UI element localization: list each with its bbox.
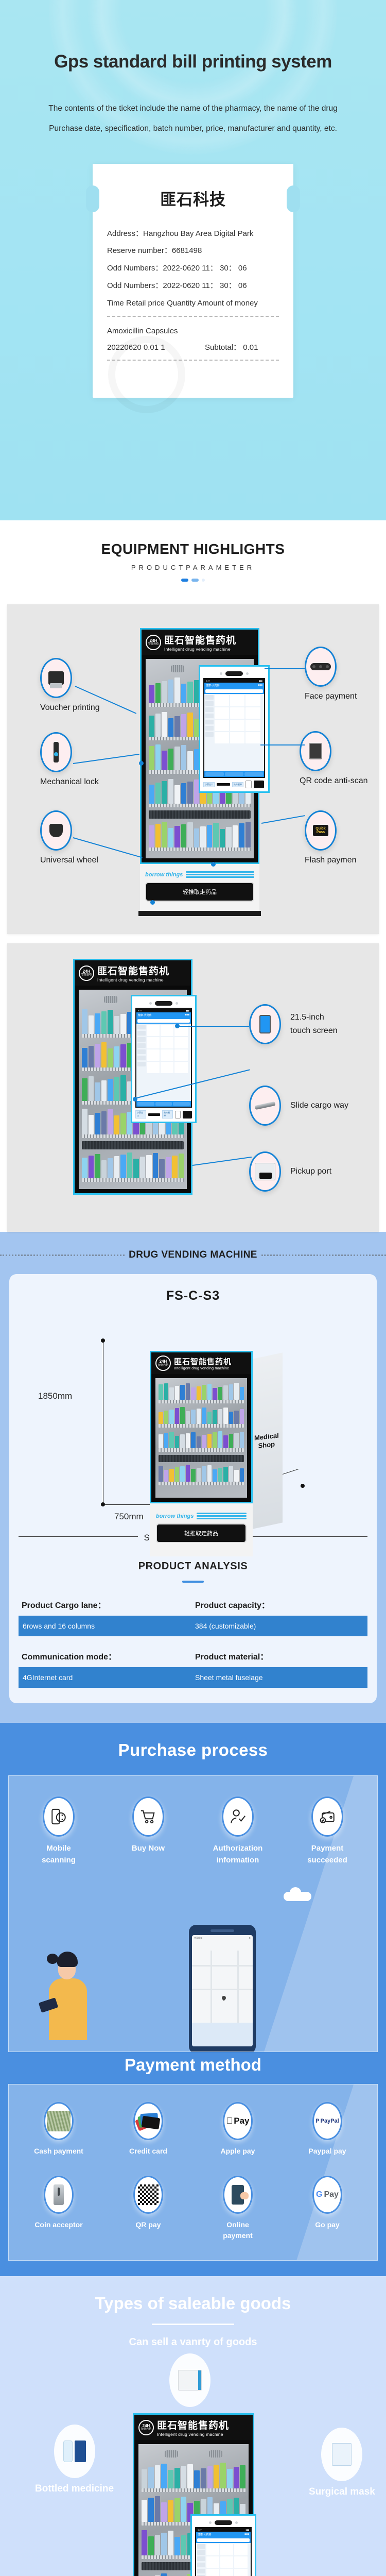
flash-pay-icon: Quick Pass (313, 825, 328, 836)
step-payment-succeeded: Payment succeeded (296, 1797, 358, 1866)
apple-pay-icon: Pay (226, 2116, 250, 2126)
receipt-watermark (108, 336, 185, 413)
callout-slide-cargo-way: Slide cargo way (249, 1086, 348, 1126)
dot-1[interactable] (181, 579, 188, 582)
screen-bottom-tabs[interactable] (136, 1101, 191, 1107)
screen-product-grid[interactable] (136, 1024, 191, 1101)
leader-line (260, 744, 305, 745)
machine-lower-panel: borrow things 轻推取走药品 (150, 1503, 253, 1556)
machine-header-banner: 24H 智能自助 匪石智能售药机 Intelligent drug vendin… (150, 1351, 253, 1374)
machine-header-banner: 24H 智能自助 匪石智能售药机 Intelligent drug vendin… (133, 2413, 254, 2440)
map-street (192, 1989, 253, 1990)
machine-cabinet (150, 1374, 253, 1503)
purchase-process-section: Purchase process Mobile scanning (0, 1723, 386, 2052)
scan-bubble (300, 731, 331, 771)
step-label: Mobile scanning (28, 1843, 90, 1866)
payment-label: Apple pay (209, 2146, 266, 2157)
pill-row (159, 1464, 244, 1482)
shopping-cart-icon (139, 1808, 157, 1825)
leader-node (211, 862, 216, 867)
payment-paypal[interactable]: PPayPal Paypal pay (299, 2102, 356, 2157)
title-dotted-line-right (261, 1255, 386, 1256)
payment-label-line-2: payment (209, 2230, 266, 2242)
pickup-port-icon (255, 1163, 275, 1180)
screen-product-items[interactable] (215, 695, 263, 770)
receipt-address-label: Address： (107, 229, 143, 238)
step-label-line-2: scanning (28, 1855, 90, 1867)
shelf-rail (149, 804, 251, 807)
hero-subtitle-line-2: Purchase date, specification, batch numb… (0, 119, 386, 139)
highlights-diagram-2: 24H 智能自助 匪石智能售药机 Intelligent drug vendin… (7, 943, 379, 1232)
google-pay-icon: GPay (316, 2190, 339, 2199)
screen-product-grid[interactable] (204, 694, 264, 771)
machine-name-block: 匪石智能售药机 Intelligent drug vending machine (174, 1356, 232, 1370)
kiosk-touchscreen[interactable]: 9:27▮▮▮ 健康·大药房■■■ (135, 1008, 192, 1108)
phone-map-screen: 共享用车⚙ (192, 1935, 253, 2046)
purchase-steps: Mobile scanning Buy Now (14, 1797, 372, 1866)
callout-label-line-1: 21.5-inch (290, 1013, 338, 1022)
table-row: 4GInternet card Sheet metal fuselage (19, 1667, 367, 1688)
machine-name-en: Intelligent drug vending machine (174, 1367, 232, 1370)
prescription-label: 处方制单 (162, 1110, 173, 1118)
user-check-icon (229, 1808, 247, 1825)
screen-statusbar: 9:27▮▮▮ (204, 679, 264, 683)
dimension-diagram: 1850mm 750mm 700mm Medical Shop (19, 1307, 367, 1528)
receipt-slot-label: 小票出口 (203, 782, 215, 787)
machine-name-en: Intelligent drug vending machine (157, 2432, 229, 2437)
leader-line (192, 1157, 252, 1166)
goods-diagram: Boxed medicine Bottled medicine Surgical… (0, 2357, 386, 2576)
vending-spec-card: FS-C-S3 1850mm 750mm 700mm Medical (9, 1274, 377, 1703)
screen-product-items[interactable] (206, 2544, 250, 2576)
dispenser-track (149, 810, 251, 819)
pickup-door[interactable]: 轻推取走药品 (156, 1523, 247, 1543)
spec-value-communication: 4GInternet card (23, 1673, 191, 1682)
screen-statusbar: 9:27▮▮▮ (196, 2528, 251, 2532)
spec-value-capacity: 384 (customizable) (191, 1622, 363, 1630)
phone-speaker (210, 1929, 234, 1932)
tree-illustration (328, 1980, 345, 2034)
goods-label: Bottled medicine (35, 2483, 114, 2495)
wheel-bubble (40, 810, 72, 851)
kiosk-camera-strip (195, 2519, 252, 2527)
step-label-line-2: information (207, 1855, 269, 1867)
payment-coin-acceptor[interactable]: Coin acceptor (30, 2176, 87, 2242)
person-illustration (43, 1951, 99, 2038)
leader-line (261, 815, 305, 824)
face-camera-icon (155, 1001, 172, 1006)
pill-row (159, 1431, 244, 1448)
receipt-reserve-label: Reserve number： (107, 246, 172, 255)
product-analysis-rule (182, 1581, 204, 1583)
machine-name-cn: 匪石智能售药机 (157, 2418, 229, 2432)
lock-icon (54, 742, 59, 762)
goods-bottled-medicine: Bottled medicine (35, 2425, 114, 2495)
machine-name-en: Intelligent drug vending machine (164, 647, 236, 652)
payment-label: QR pay (120, 2219, 177, 2231)
callout-label: Face payment (305, 692, 357, 701)
machine-name-cn: 匪石智能售药机 (164, 633, 236, 647)
receipt-item-name: Amoxicillin Capsules (107, 323, 279, 340)
callout-label: Universal wheel (40, 856, 98, 865)
user-check-bubble (222, 1797, 254, 1837)
callout-pickup-port: Pickup port (249, 1151, 331, 1192)
spec-label-communication: Communication mode： (22, 1650, 191, 1662)
spec-label-material: Product material： (191, 1650, 364, 1662)
surgical-mask-icon (332, 2443, 352, 2466)
step-label-line-2: succeeded (296, 1855, 358, 1867)
equipment-highlights-section: EQUIPMENT HIGHLIGHTS PRODUCTPARAMETER 24… (0, 520, 386, 1232)
qr-scanner-icon (309, 743, 322, 759)
payment-apple-pay[interactable]: Pay Apple pay (209, 2102, 266, 2157)
credit-cards-icon (136, 2111, 160, 2131)
medicine-box-icon (178, 2370, 202, 2391)
table-header-row: Product Cargo lane： Product capacity： (19, 1598, 367, 1616)
page-title: Gps standard bill printing system (0, 52, 386, 72)
payment-online[interactable]: Online payment (209, 2176, 266, 2242)
payment-method-section: Payment method Cash payment Credit card … (0, 2052, 386, 2276)
dimension-height: 1850mm (38, 1391, 72, 1401)
receipt-slot-icon (217, 783, 230, 786)
screen-navbar: 健康·大药房■■■ (136, 1012, 191, 1018)
highlights-title: EQUIPMENT HIGHLIGHTS (0, 541, 386, 557)
logo-bars (186, 871, 254, 878)
receipt-odd-row-2: Odd Numbers：2022-0620 11： 30： 06 (107, 277, 279, 295)
carousel-dots[interactable] (0, 579, 386, 582)
saleable-goods-section: Types of saleable goods Can sell a vanrt… (0, 2276, 386, 2576)
step-label-line-1: Authorization (207, 1843, 269, 1855)
receipt-logo: 匪石科技 (107, 187, 279, 210)
cash-bubble (44, 2102, 74, 2140)
receipt-card: 匪石科技 Address：Hangzhou Bay Area Digital P… (93, 164, 293, 398)
screen-search-input[interactable] (137, 1019, 190, 1023)
callout-qr-anti-scan: QR code anti-scan (300, 731, 368, 786)
highlights-diagram-1: 24H 智能自助 匪石智能售药机 Intelligent drug vendin… (7, 604, 379, 934)
leader-node (133, 1097, 137, 1101)
badge-auto-text: 智能自助 (148, 643, 159, 646)
kiosk-controls: 小票出口 处方制单 (135, 1108, 192, 1118)
table-row: 6rows and 16 columns 384 (customizable) (19, 1616, 367, 1636)
wallet-check-bubble (311, 1797, 343, 1837)
qr-scanner-icon[interactable] (254, 781, 264, 788)
lock-bubble (40, 732, 72, 772)
machine-glass-window (155, 1378, 247, 1498)
kiosk-panel-3: 9:27▮▮▮ 健康·大药房■■■ (190, 2514, 256, 2576)
mask-bubble (321, 2428, 362, 2481)
vent-left (171, 665, 184, 672)
apple-pay-bubble: Pay (223, 2102, 253, 2140)
receipt-subtotal-value: 0.01 (243, 340, 258, 356)
callout-label-block: 21.5-inch touch screen (290, 1013, 338, 1036)
cloud-illustration (284, 1892, 311, 1901)
payment-label-line-1: Online (209, 2219, 266, 2231)
kiosk-touchscreen[interactable]: 9:27▮▮▮ 健康·大药房■■■ (195, 2527, 252, 2576)
vending-machine-3d: Medical Shop 24H 智能自助 匪石智能售药机 (150, 1351, 253, 1556)
machine-name-cn: 匪石智能售药机 (97, 963, 169, 977)
screen-category-list[interactable] (197, 2544, 205, 2576)
callout-universal-wheel: Universal wheel (40, 810, 98, 865)
dot-2[interactable] (191, 579, 199, 582)
payment-label: Online payment (209, 2219, 266, 2242)
receipt-odd-value-2: 2022-0620 11： 30： 06 (163, 281, 247, 290)
leader-node (139, 761, 144, 766)
receipt-address-row: Address：Hangzhou Bay Area Digital Park (107, 225, 279, 243)
machine-name-block: 匪石智能售药机 Intelligent drug vending machine (157, 2418, 229, 2437)
shelf-row (159, 1464, 244, 1485)
shelf-row (159, 1431, 244, 1452)
card-reader-icon[interactable] (175, 1111, 181, 1118)
screen-search-input[interactable] (197, 2538, 250, 2542)
step-label: Buy Now (117, 1843, 179, 1855)
person-hair-bun (47, 1954, 58, 1964)
screen-category-list[interactable] (205, 695, 214, 770)
printer-bubble (40, 658, 72, 698)
shelf-rail (149, 848, 251, 851)
qr-scanner-icon[interactable] (183, 1111, 192, 1118)
payment-label: Cash payment (30, 2146, 87, 2157)
dimension-dot (101, 1502, 105, 1506)
step-label-line-1: Buy Now (117, 1843, 179, 1855)
step-mobile-scanning: Mobile scanning (28, 1797, 90, 1866)
mobile-hand-icon (232, 2185, 244, 2205)
kiosk-panel-1: 9:27▮▮▮ 健康·大药房■■■ 小票出口 处方制单 (199, 665, 270, 793)
online-bubble (223, 2176, 253, 2214)
dimension-width: 750mm (114, 1512, 144, 1522)
dimension-dot (301, 1484, 305, 1488)
pill-row (159, 1382, 244, 1400)
receipt-wrapper: 匪石科技 Address：Hangzhou Bay Area Digital P… (93, 164, 293, 398)
receipt-address-value: Hangzhou Bay Area Digital Park (143, 229, 253, 238)
kiosk-panel-2: 9:27▮▮▮ 健康·大药房■■■ 小票出口 处方制单 (131, 995, 197, 1123)
machine-lower-panel: borrow things 轻推取走药品 (140, 864, 259, 911)
touchscreen-icon (259, 1015, 271, 1033)
map-header: 共享用车⚙ (192, 1935, 253, 1941)
payment-google-pay[interactable]: GPay Go pay (299, 2176, 356, 2242)
section-title: DRUG VENDING MACHINE (129, 1249, 257, 1261)
shelf-row (82, 1151, 184, 1182)
coin-acceptor-icon (54, 2184, 64, 2205)
goods-rule (152, 2324, 234, 2325)
face-camera-icon (225, 671, 243, 676)
screen-search-input[interactable] (205, 689, 263, 693)
kiosk-camera-strip (135, 999, 192, 1008)
machine-front: 24H 智能自助 匪石智能售药机 Intelligent drug vendin… (150, 1351, 253, 1556)
shelf-row (149, 821, 251, 851)
screen-bottom-tabs[interactable] (204, 771, 264, 777)
badge-auto-text: 智能自助 (81, 974, 92, 976)
screen-product-grid[interactable] (196, 2543, 251, 2576)
spec-label-cargo-lane: Product Cargo lane： (22, 1598, 191, 1611)
machine-name-block: 匪石智能售药机 Intelligent drug vending machine (164, 633, 236, 652)
step-label: Payment succeeded (296, 1843, 358, 1866)
person-hair (57, 1952, 78, 1967)
purchase-panel: Mobile scanning Buy Now (8, 1775, 378, 2052)
callout-label: Slide cargo way (290, 1101, 348, 1110)
badge-24h-icon: 24H 智能自助 (79, 965, 94, 981)
kiosk-controls: 小票出口 处方制单 (203, 778, 265, 788)
paypal-bubble: PPayPal (312, 2102, 342, 2140)
payment-title: Payment method (0, 2055, 386, 2075)
screen-category-list[interactable] (137, 1025, 146, 1100)
goods-surgical-mask: Surgical mask (309, 2428, 375, 2498)
shelf-row (142, 2462, 245, 2492)
leader-line (177, 1026, 249, 1027)
receipt-odd-value-1: 2022-0620 11： 30： 06 (163, 264, 247, 273)
medicine-bottle-bubble (54, 2425, 95, 2478)
drug-vending-machine-section: DRUG VENDING MACHINE FS-C-S3 1850mm 750m… (0, 1232, 386, 1723)
dimension-line-vertical (103, 1341, 103, 1504)
machine-header-banner: 24H 智能自助 匪石智能售药机 Intelligent drug vendin… (140, 628, 259, 655)
receipt-slot-icon (148, 1113, 161, 1116)
cash-icon (47, 2111, 71, 2131)
receipt-column-headers: Time Retail price Quantity Amount of mon… (107, 295, 279, 312)
section-title-row: DRUG VENDING MACHINE (0, 1249, 386, 1261)
badge-24h-icon: 24H 智能自助 (138, 2420, 154, 2435)
qr-bubble (133, 2176, 163, 2214)
screen-navbar: 健康·大药房■■■ (204, 683, 264, 688)
payment-label: Credit card (120, 2146, 177, 2157)
face-camera-icon (215, 2520, 232, 2525)
callout-touch-screen: 21.5-inch touch screen (249, 1004, 338, 1044)
machine-name-en: Intelligent drug vending machine (97, 977, 169, 982)
medicine-box-bubble (169, 2353, 210, 2407)
slide-rail-icon (255, 1101, 276, 1110)
receipt-odd-label-2: Odd Numbers： (107, 281, 163, 290)
highlights-header: EQUIPMENT HIGHLIGHTS PRODUCTPARAMETER (0, 520, 386, 591)
face-scanner-icon (310, 663, 331, 670)
paypal-text: PayPal (321, 2118, 339, 2124)
prescription-label: 处方制单 (232, 782, 243, 787)
step-authorization: Authorization information (207, 1797, 269, 1866)
machine-base (138, 911, 261, 916)
dispenser-track (82, 1141, 184, 1149)
touchscreen-bubble (249, 1004, 281, 1044)
dot-3[interactable] (202, 579, 205, 582)
model-number: FS-C-S3 (19, 1289, 367, 1303)
hero-subtitle: The contents of the ticket include the n… (0, 99, 386, 139)
dimension-dot (101, 1338, 105, 1343)
payment-credit-card[interactable]: Credit card (120, 2102, 177, 2157)
flash-bubble: Quick Pass (305, 810, 337, 851)
machine-header-banner: 24H 智能自助 匪石智能售药机 Intelligent drug vendin… (73, 959, 192, 986)
product-detail-page: Gps standard bill printing system The co… (0, 0, 386, 2576)
machine-name-block: 匪石智能售药机 Intelligent drug vending machine (97, 963, 169, 982)
callout-label: QR code anti-scan (300, 776, 368, 786)
receipt-reserve-row: Reserve number：6681498 (107, 242, 279, 260)
callout-voucher-printing: Voucher printing (40, 658, 100, 713)
callout-label-line-2: touch screen (290, 1026, 338, 1036)
cart-bubble (132, 1797, 164, 1837)
step-label: Authorization information (207, 1843, 269, 1866)
coin-bubble (44, 2176, 74, 2214)
cards-bubble (133, 2102, 163, 2140)
person-body (49, 1978, 87, 2040)
gpay-bubble: GPay (312, 2176, 342, 2214)
callout-face-payment: Face payment (305, 647, 357, 701)
callout-mechanical-lock: Mechanical lock (40, 732, 99, 787)
goods-subtitle: Can sell a vanrty of goods (0, 2336, 386, 2348)
callout-label: Flash paymen (305, 856, 357, 865)
machine-name-cn: 匪石智能售药机 (174, 1356, 232, 1367)
leader-node (175, 1024, 180, 1028)
borrow-things-text: borrow things (145, 872, 183, 878)
map-street (192, 1965, 253, 1967)
receipt-reserve-value: 6681498 (172, 246, 202, 255)
pill-row (142, 2462, 245, 2488)
payment-label: Go pay (299, 2219, 356, 2231)
spec-label-capacity: Product capacity： (191, 1598, 364, 1611)
receipt-slot-label: 小票出口 (135, 1110, 146, 1118)
borrow-things-logo: borrow things (156, 1513, 247, 1519)
product-analysis-table: Product Cargo lane： Product capacity： 6r… (19, 1598, 367, 1688)
receipt-odd-label-1: Odd Numbers： (107, 264, 163, 273)
dispenser-track (159, 1455, 244, 1462)
step-label-line-1: Mobile (28, 1843, 90, 1855)
medicine-carton-icon (75, 2441, 86, 2462)
face-bubble (305, 647, 337, 687)
pickup-bubble (249, 1151, 281, 1192)
spec-value-cargo-lane: 6rows and 16 columns (23, 1622, 191, 1630)
purchase-title: Purchase process (0, 1740, 386, 1760)
borrow-things-text: borrow things (156, 1513, 194, 1519)
spec-value-material: Sheet metal fuselage (191, 1673, 363, 1682)
machine-vents (142, 2448, 245, 2462)
table-header-row: Communication mode： Product material： (19, 1650, 367, 1667)
slide-bubble (249, 1086, 281, 1126)
payment-cash[interactable]: Cash payment (30, 2102, 87, 2157)
screen-statusbar: 9:27▮▮▮ (136, 1009, 191, 1012)
google-pay-text: Pay (324, 2190, 338, 2199)
phone-mockup: 共享用车⚙ (189, 1925, 256, 2052)
step-label-line-1: Payment (296, 1843, 358, 1855)
borrow-things-logo: borrow things (145, 871, 254, 878)
goods-label: Surgical mask (309, 2486, 375, 2498)
receipt-divider-top (107, 316, 279, 317)
payment-row-1: Cash payment Credit card Pay Apple pay … (14, 2102, 372, 2157)
payment-label: Paypal pay (299, 2146, 356, 2157)
pickup-door[interactable]: 轻推取走药品 (145, 882, 254, 902)
map-water (192, 2023, 253, 2046)
screen-navbar: 健康·大药房■■■ (196, 2532, 251, 2537)
payment-qr-pay[interactable]: QR pay (120, 2176, 177, 2242)
kiosk-camera-strip (203, 670, 265, 678)
badge-24h-icon: 24H 智能自助 (146, 635, 161, 650)
kiosk-touchscreen[interactable]: 9:27▮▮▮ 健康·大药房■■■ (203, 678, 265, 778)
title-dotted-line-left (0, 1255, 125, 1256)
mobile-scan-bubble (43, 1797, 75, 1837)
machine-side-panel: Medical Shop (251, 1352, 283, 1529)
product-analysis-title: PRODUCT ANALYSIS (19, 1561, 367, 1572)
receipt-odd-row-1: Odd Numbers：2022-0620 11： 30： 06 (107, 260, 279, 277)
leader-line (265, 668, 305, 669)
callout-label: Mechanical lock (40, 777, 99, 787)
payment-panel: Cash payment Credit card Pay Apple pay … (8, 2084, 378, 2261)
side-branding: Medical Shop (254, 1431, 279, 1451)
badge-24h-icon: 24H 智能自助 (155, 1355, 171, 1371)
pill-row (159, 1406, 244, 1424)
screen-product-items[interactable] (147, 1025, 190, 1100)
qr-code-icon (138, 2184, 159, 2205)
pill-row (82, 1151, 184, 1178)
vending-machine-illustration-3: 24H 智能自助 匪石智能售药机 Intelligent drug vendin… (133, 2413, 254, 2576)
paypal-icon: PPayPal (315, 2118, 339, 2124)
highlights-subtitle: PRODUCTPARAMETER (0, 564, 386, 571)
receipt-subtotal-label: Subtotal： (205, 340, 241, 356)
callout-label: Voucher printing (40, 703, 100, 713)
shelf-row (159, 1406, 244, 1428)
step-buy-now: Buy Now (117, 1797, 179, 1866)
card-reader-icon[interactable] (245, 781, 252, 788)
